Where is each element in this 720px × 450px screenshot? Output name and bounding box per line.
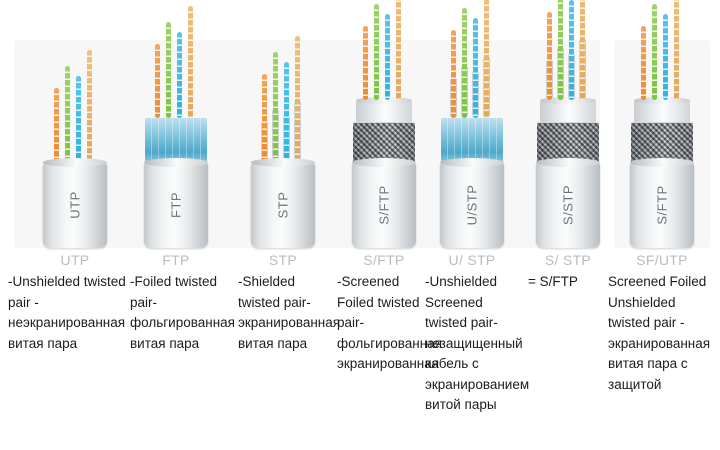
wire-pair (54, 88, 59, 162)
cable-column-ftp: FTP (139, 0, 213, 450)
cable-jacket: U/STP (440, 162, 504, 248)
cable-jacket: S/FTP (352, 162, 416, 248)
twisted-pairs (361, 36, 407, 100)
column-description: -Unshielded Screened twisted pair-незащи… (425, 272, 525, 416)
wire-pair (295, 36, 300, 162)
cable-column-sstp: S/STP (531, 0, 605, 450)
wire-pair (484, 0, 489, 118)
twisted-pairs (153, 36, 199, 118)
wire-pair (262, 74, 267, 162)
column-header: FTP (116, 252, 236, 268)
wire-pair (284, 62, 289, 162)
wire-pair (273, 52, 278, 162)
cable-jacket: UTP (43, 162, 107, 248)
column-description: -Shielded twisted pair-экранированная ви… (238, 272, 334, 354)
twisted-pairs (52, 36, 98, 162)
column-description: -Foiled twisted pair-фольгированная вита… (130, 272, 234, 354)
wire-pair (674, 0, 679, 100)
cable-illustration: S/STP (531, 36, 605, 248)
jacket-label: STP (276, 192, 291, 219)
wire-pair (580, 0, 585, 100)
wire-pair (385, 14, 390, 100)
foil-shield (441, 118, 503, 162)
wire-pair (451, 30, 456, 118)
wire-pair (558, 0, 563, 100)
twisted-pairs (545, 36, 591, 100)
cable-illustration: STP (246, 36, 320, 248)
wire-pair (641, 26, 646, 100)
wire-pair (663, 14, 668, 100)
cable-jacket: FTP (144, 162, 208, 248)
column-description: -Screened Foiled twisted pair-фольгирова… (337, 272, 423, 375)
wire-pair (374, 4, 379, 100)
twisted-pairs (639, 36, 685, 100)
wire-pair (65, 66, 70, 162)
column-description: Screened Foiled Unshielded twisted pair … (608, 272, 716, 395)
jacket-label: S/FTP (377, 185, 392, 224)
cable-jacket: S/STP (536, 162, 600, 248)
inner-collar (634, 100, 690, 122)
wire-pair (473, 18, 478, 118)
cable-illustration: S/FTP (625, 36, 699, 248)
jacket-label: S/FTP (655, 185, 670, 224)
wire-pair (188, 6, 193, 118)
wire-pair (547, 12, 552, 100)
wire-pair (155, 44, 160, 118)
jacket-label: U/STP (465, 185, 480, 226)
cable-column-stp: STP (246, 0, 320, 450)
cable-columns: UTPUTP-Unshielded twisted pair - неэкран… (0, 0, 720, 450)
cable-illustration: S/FTP (347, 36, 421, 248)
wire-pair (87, 50, 92, 162)
wire-pair (652, 4, 657, 100)
jacket-label: UTP (68, 191, 83, 219)
wire-pair (396, 0, 401, 100)
wire-pair (166, 22, 171, 118)
column-description: = S/FTP (528, 272, 604, 293)
inner-collar (540, 100, 596, 122)
cable-illustration: UTP (38, 36, 112, 248)
wire-pair (177, 32, 182, 118)
cable-jacket: S/FTP (630, 162, 694, 248)
cable-column-sftp: S/FTP (347, 0, 421, 450)
wire-pair (76, 76, 81, 162)
cable-column-utp: UTP (38, 0, 112, 450)
twisted-pairs (449, 36, 495, 118)
cable-illustration: U/STP (435, 36, 509, 248)
column-header: SF/UTP (602, 252, 720, 268)
column-description: -Unshielded twisted pair - неэкранирован… (8, 272, 126, 354)
cable-types-infographic: { "background": { "page_color": "#ffffff… (0, 0, 720, 450)
jacket-label: S/STP (561, 185, 576, 225)
wire-pair (363, 26, 368, 100)
cable-jacket: STP (251, 162, 315, 248)
cable-illustration: FTP (139, 36, 213, 248)
inner-collar (356, 100, 412, 122)
twisted-pairs (260, 36, 306, 162)
jacket-label: FTP (169, 192, 184, 218)
wire-pair (569, 0, 574, 100)
wire-pair (462, 8, 467, 118)
foil-shield (145, 118, 207, 162)
